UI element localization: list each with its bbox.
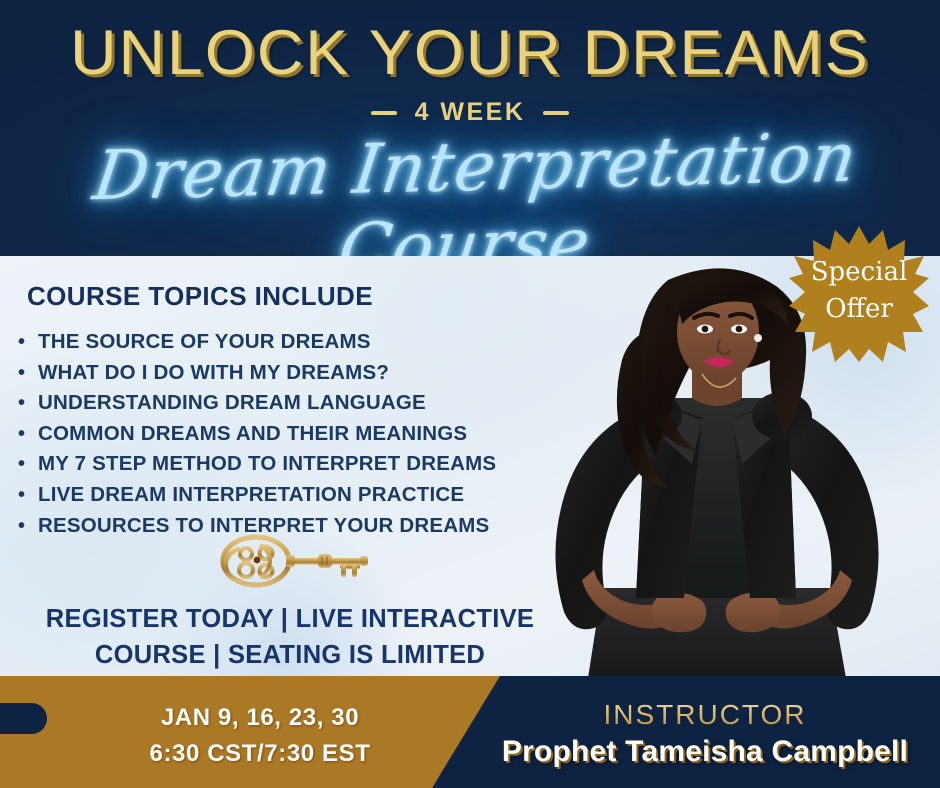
topics-heading: COURSE TOPICS INCLUDE [27,281,373,312]
instructor-block: INSTRUCTOR Prophet Tameisha Campbell [470,698,940,772]
topics-list: •THE SOURCE OF YOUR DREAMS •WHAT DO I DO… [18,327,496,541]
topic-label: THE SOURCE OF YOUR DREAMS [38,330,371,353]
bullet-icon: • [18,327,38,358]
bullet-icon: • [18,388,38,419]
duration-label: 4 WEEK [415,98,526,126]
topic-label: MY 7 STEP METHOD TO INTERPRET DREAMS [38,452,496,475]
dash-left-icon [371,111,397,115]
instructor-label: INSTRUCTOR [470,698,940,732]
list-item: •UNDERSTANDING DREAM LANGUAGE [18,388,496,419]
starburst-icon [789,224,929,364]
topic-label: LIVE DREAM INTERPRETATION PRACTICE [38,483,464,506]
bullet-icon: • [18,358,38,389]
promotional-flyer: UNLOCK YOUR DREAMS 4 WEEK Dream Interpre… [0,0,940,788]
instructor-name: Prophet Tameisha Campbell [470,732,940,772]
header-banner: UNLOCK YOUR DREAMS 4 WEEK Dream Interpre… [0,0,940,256]
cta-line-2: COURSE | SEATING IS LIMITED [0,637,580,673]
bullet-icon: • [18,511,38,542]
topic-label: UNDERSTANDING DREAM LANGUAGE [38,391,426,414]
list-item: •LIVE DREAM INTERPRETATION PRACTICE [18,480,496,511]
cta-text: REGISTER TODAY | LIVE INTERACTIVE COURSE… [0,601,580,673]
topic-label: WHAT DO I DO WITH MY DREAMS? [38,361,389,384]
skeleton-key-icon [218,533,378,589]
bullet-icon: • [18,449,38,480]
dates-line-2: 6:30 CST/7:30 EST [95,736,425,772]
bullet-icon: • [18,419,38,450]
page-title: UNLOCK YOUR DREAMS [0,22,940,85]
list-item: •THE SOURCE OF YOUR DREAMS [18,327,496,358]
special-offer-badge[interactable]: Special Offer [789,224,929,364]
cta-line-1: REGISTER TODAY | LIVE INTERACTIVE [0,601,580,637]
topic-label: COMMON DREAMS AND THEIR MEANINGS [38,422,467,445]
bullet-icon: • [18,480,38,511]
key-graphic [218,533,378,589]
dates-line-1: JAN 9, 16, 23, 30 [95,700,425,736]
list-item: •WHAT DO I DO WITH MY DREAMS? [18,358,496,389]
list-item: •MY 7 STEP METHOD TO INTERPRET DREAMS [18,449,496,480]
dash-right-icon [543,111,569,115]
footer-accent-pill [0,703,47,734]
course-dates: JAN 9, 16, 23, 30 6:30 CST/7:30 EST [95,700,425,772]
list-item: •COMMON DREAMS AND THEIR MEANINGS [18,419,496,450]
